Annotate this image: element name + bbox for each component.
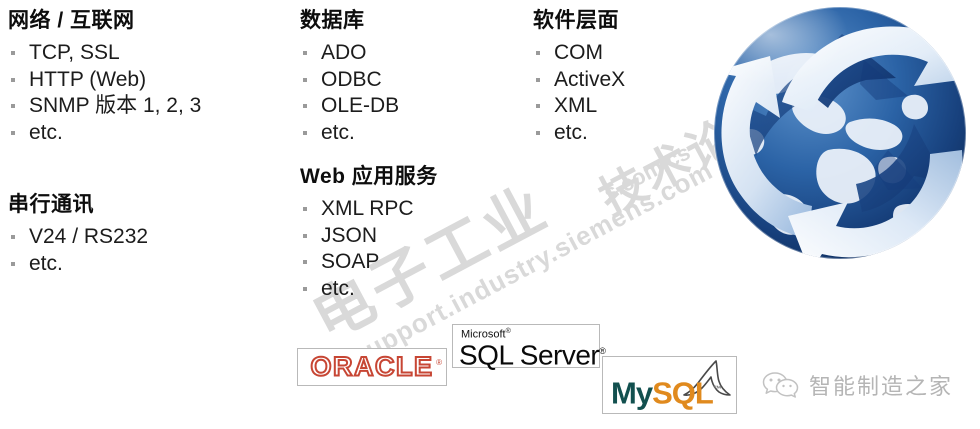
section-web-services: Web 应用服务 XML RPC JSON SOAP etc. [300,160,438,302]
oracle-trademark: ® [436,358,442,367]
sql-server-label: SQL Server [459,339,599,370]
list-item: etc. [8,120,201,147]
list-web-services: XML RPC JSON SOAP etc. [300,196,438,302]
list-item: HTTP (Web) [8,67,201,94]
list-item-label: XML RPC [321,197,414,220]
bullet-icon [11,51,15,55]
list-item-label: V24 / RS232 [29,225,148,248]
bullet-icon [536,131,540,135]
bullet-icon [11,262,15,266]
list-item-label: ODBC [321,68,382,91]
wechat-account-name: 智能制造之家 [809,369,953,401]
list-item-label: etc. [29,252,63,275]
list-item-label: OLE-DB [321,94,399,117]
section-database: 数据库 ADO ODBC OLE-DB etc. [300,4,399,146]
bullet-icon [303,260,307,264]
list-item-label: etc. [321,277,355,300]
logo-sql-server: Microsoft® SQL Server® [452,324,600,368]
watermark-text-4: s.com/cs [599,139,694,206]
bullet-icon [11,78,15,82]
bullet-icon [303,234,307,238]
list-item: OLE-DB [300,93,399,120]
bullet-icon [303,78,307,82]
list-item: COM [533,40,625,67]
list-item: JSON [300,223,438,250]
bullet-icon [11,104,15,108]
list-item: etc. [300,120,399,147]
section-heading-serial: 串行通讯 [8,188,148,218]
list-item-label: JSON [321,224,377,247]
mysql-wordmark: MySQL™ [611,373,721,409]
list-item-label: etc. [29,121,63,144]
list-item-label: TCP, SSL [29,41,120,64]
bullet-icon [303,131,307,135]
list-network: TCP, SSL HTTP (Web) SNMP 版本 1, 2, 3 etc. [8,40,201,146]
list-serial: V24 / RS232 etc. [8,224,148,277]
logo-mysql: MySQL™ [602,356,737,414]
logo-oracle: ORACLE ® [297,348,447,386]
section-network: 网络 / 互联网 TCP, SSL HTTP (Web) SNMP 版本 1, … [8,4,201,146]
list-item: etc. [533,120,625,147]
list-item-label: HTTP (Web) [29,68,146,91]
mysql-trademark: ™ [713,384,721,394]
list-software: COM ActiveX XML etc. [533,40,625,146]
mysql-part-sql: SQL [652,375,713,410]
list-item: ODBC [300,67,399,94]
list-item-label: ActiveX [554,68,625,91]
list-item-label: etc. [554,121,588,144]
list-item: SOAP [300,249,438,276]
list-item: etc. [8,251,148,278]
list-item: XML RPC [300,196,438,223]
list-item: V24 / RS232 [8,224,148,251]
microsoft-trademark: ® [506,328,511,335]
list-item: etc. [300,276,438,303]
bullet-icon [536,104,540,108]
bullet-icon [303,287,307,291]
sql-server-wordmark: SQL Server® [459,336,605,370]
list-database: ADO ODBC OLE-DB etc. [300,40,399,146]
wechat-icon [762,370,800,400]
bullet-icon [536,51,540,55]
bullet-icon [303,51,307,55]
list-item: SNMP 版本 1, 2, 3 [8,93,201,120]
globe-arrows-icon [700,0,980,272]
list-item: XML [533,93,625,120]
bullet-icon [303,207,307,211]
list-item: ADO [300,40,399,67]
list-item-label: SNMP 版本 1, 2, 3 [29,94,201,117]
bullet-icon [303,104,307,108]
list-item-label: COM [554,41,603,64]
section-serial: 串行通讯 V24 / RS232 etc. [8,188,148,277]
list-item: ActiveX [533,67,625,94]
bullet-icon [536,78,540,82]
wechat-badge: 智能制造之家 [762,369,953,401]
section-heading-network: 网络 / 互联网 [8,4,201,34]
list-item-label: XML [554,94,597,117]
list-item-label: ADO [321,41,367,64]
list-item: TCP, SSL [8,40,201,67]
slide-canvas: 电子工业 support.industry.siemens.com 技术论坛 s… [0,0,980,429]
oracle-wordmark: ORACLE [311,352,434,383]
section-heading-database: 数据库 [300,4,399,34]
section-heading-web-services: Web 应用服务 [300,160,438,190]
mysql-part-my: My [611,375,652,410]
list-item-label: SOAP [321,250,379,273]
section-software: 软件层面 COM ActiveX XML etc. [533,4,625,146]
bullet-icon [11,235,15,239]
list-item-label: etc. [321,121,355,144]
bullet-icon [11,131,15,135]
section-heading-software: 软件层面 [533,4,625,34]
sql-server-trademark: ® [599,346,605,356]
